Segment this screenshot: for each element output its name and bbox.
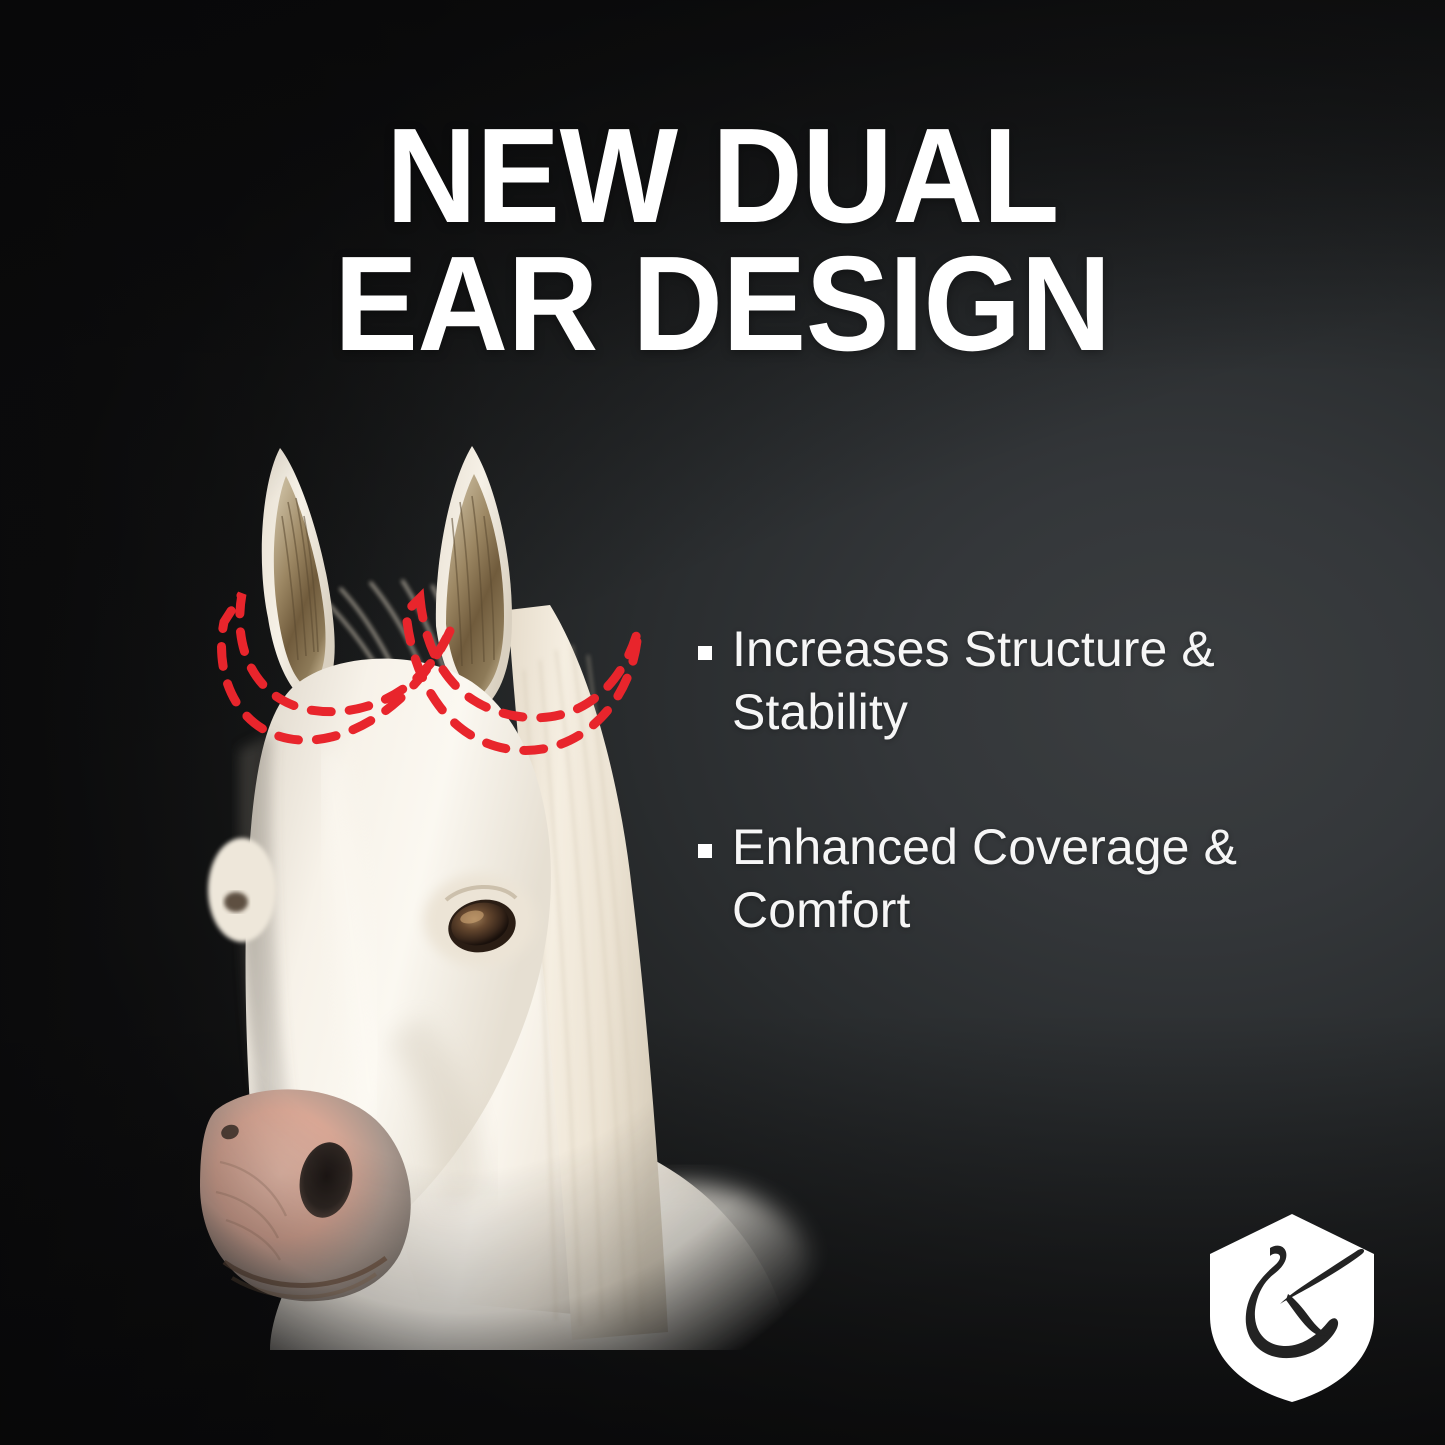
- bullet-square-icon: [698, 844, 712, 858]
- list-item: Increases Structure & Stability: [698, 618, 1358, 744]
- headline: NEW DUAL EAR DESIGN: [51, 112, 1395, 369]
- feature-text: Enhanced Coverage & Comfort: [732, 816, 1358, 942]
- feature-list: Increases Structure & Stability Enhanced…: [698, 618, 1358, 1014]
- brand-logo: [1206, 1212, 1378, 1404]
- promo-graphic: NEW DUAL EAR DESIGN: [0, 0, 1445, 1445]
- headline-line-1: NEW DUAL: [51, 112, 1395, 240]
- feature-text: Increases Structure & Stability: [732, 618, 1358, 744]
- bullet-square-icon: [698, 646, 712, 660]
- list-item: Enhanced Coverage & Comfort: [698, 816, 1358, 942]
- headline-line-2: EAR DESIGN: [51, 240, 1395, 368]
